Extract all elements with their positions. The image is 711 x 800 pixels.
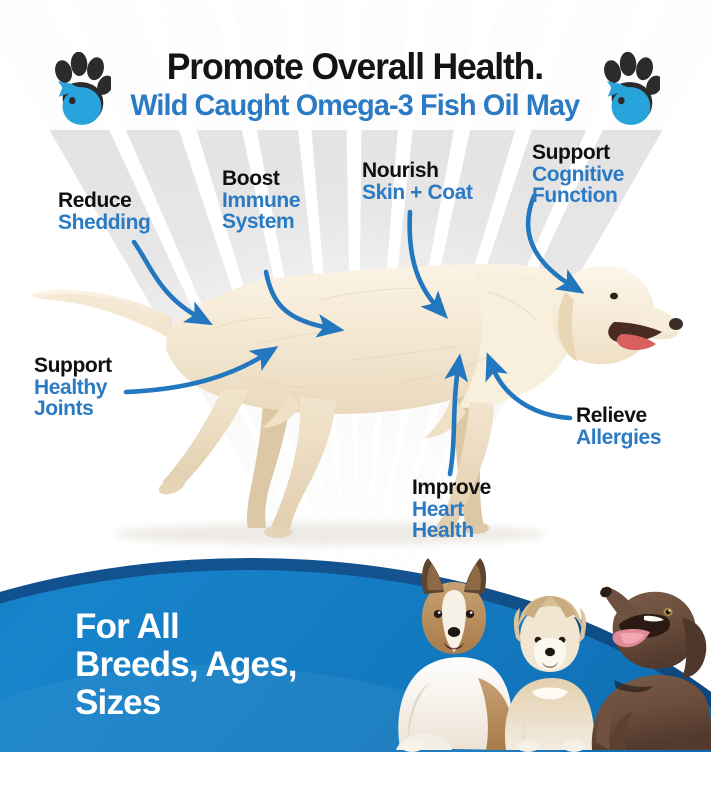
callout-reduce-shedding: Reduce Shedding	[58, 190, 150, 233]
arrow-reduce-shedding	[134, 242, 200, 318]
callout-line-1: Reduce	[58, 190, 150, 212]
callout-line-2: Allergies	[576, 427, 661, 449]
callout-nourish-skin-coat: Nourish Skin + Coat	[362, 160, 473, 203]
callout-relieve-allergies: Relieve Allergies	[576, 405, 661, 448]
arrow-support-joints	[126, 354, 266, 392]
callout-line-1: Relieve	[576, 405, 661, 427]
infographic-poster: Promote Overall Health. Wild Caught Omeg…	[0, 0, 711, 800]
callout-line-1: Improve	[412, 477, 491, 499]
callout-line-1: Boost	[222, 168, 300, 190]
callout-line-3: Health	[412, 520, 491, 542]
arrow-boost-immune	[266, 272, 330, 328]
callout-line-2: Healthy	[34, 377, 112, 399]
callout-line-2: Skin + Coat	[362, 182, 473, 204]
callout-line-2: Heart	[412, 499, 491, 521]
callout-line-2: Immune	[222, 190, 300, 212]
chocolate-labrador-dog	[592, 585, 711, 750]
callout-improve-heart-health: Improve Heart Health	[412, 477, 491, 542]
banner-line-1: For All	[75, 608, 297, 646]
arrow-improve-heart	[450, 368, 458, 474]
arrow-nourish-skin-coat	[410, 212, 438, 308]
callout-line-2: Cognitive	[532, 164, 624, 186]
banner-line-2: Breeds, Ages,	[75, 646, 297, 684]
callout-line-1: Support	[34, 355, 112, 377]
callout-line-1: Support	[532, 142, 624, 164]
callout-support-healthy-joints: Support Healthy Joints	[34, 355, 112, 420]
callout-boost-immune-system: Boost Immune System	[222, 168, 300, 233]
callout-support-cognitive-function: Support Cognitive Function	[532, 142, 624, 207]
trio-dogs-image	[382, 552, 711, 752]
shetland-sheepdog	[396, 558, 512, 752]
callout-line-3: Function	[532, 185, 624, 207]
callout-line-3: Joints	[34, 398, 112, 420]
arrow-relieve-allergies	[492, 366, 570, 418]
arrow-support-cognitive	[528, 196, 572, 286]
banner-line-3: Sizes	[75, 684, 297, 722]
callout-line-3: System	[222, 211, 300, 233]
small-terrier-dog	[505, 596, 594, 752]
callout-line-1: Nourish	[362, 160, 473, 182]
banner-headline: For All Breeds, Ages, Sizes	[75, 608, 297, 722]
callout-line-2: Shedding	[58, 212, 150, 234]
